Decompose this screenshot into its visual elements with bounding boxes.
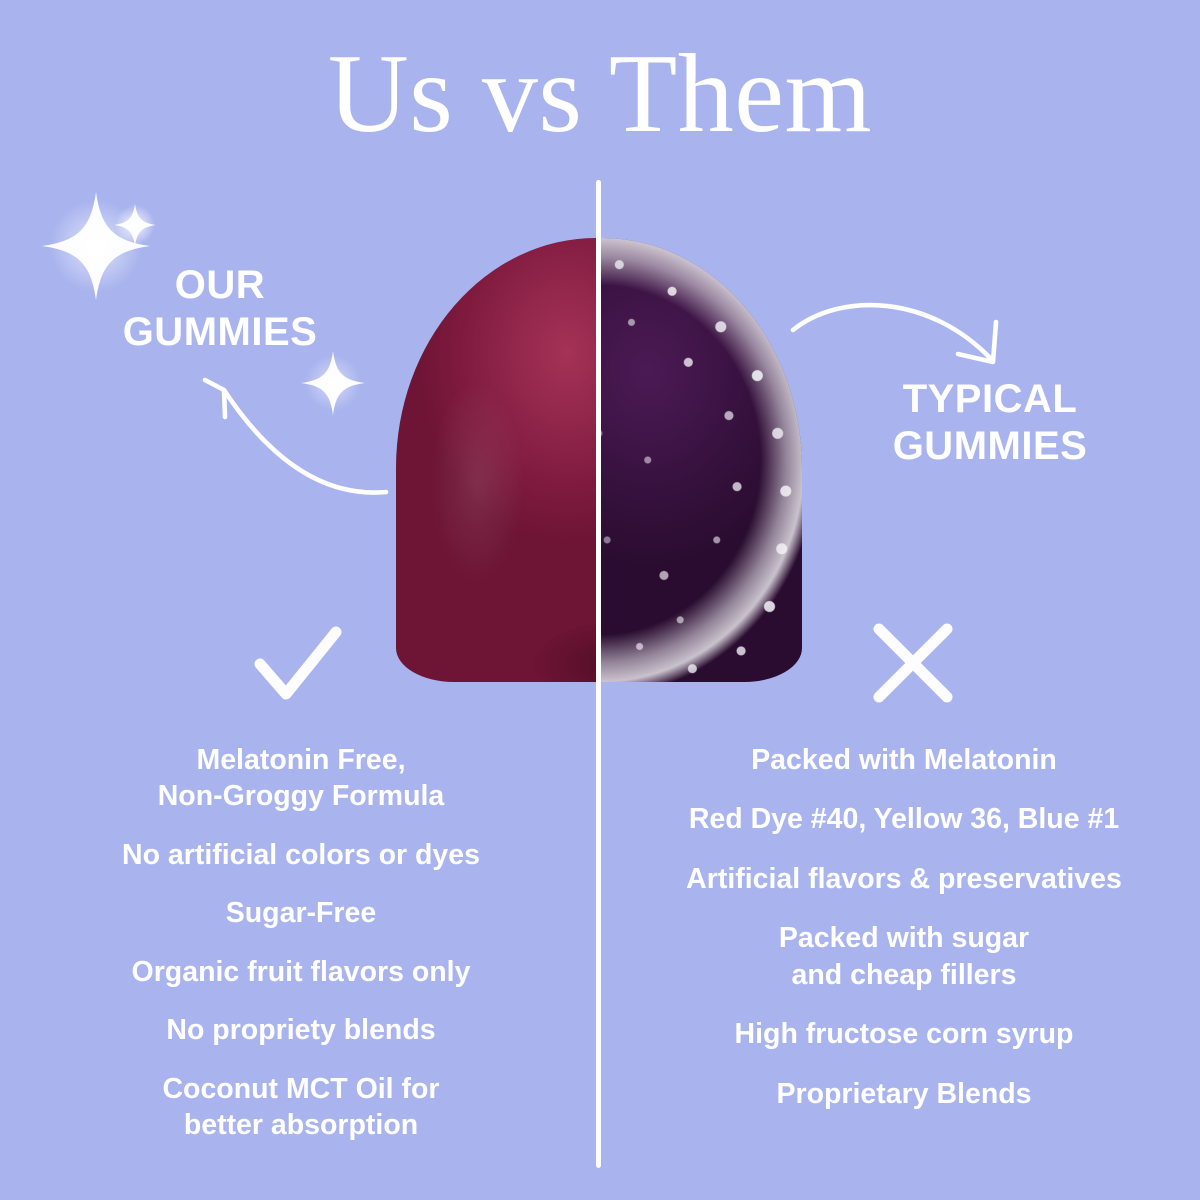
vertical-divider-line bbox=[596, 180, 601, 1168]
list-item: Organic fruit flavors only bbox=[20, 954, 582, 990]
page-title: Us vs Them bbox=[0, 38, 1200, 150]
column-heading-ours: OUR GUMMIES bbox=[40, 262, 400, 356]
gummy-half-typical bbox=[599, 238, 802, 682]
benefits-list-ours: Melatonin Free, Non-Groggy Formula No ar… bbox=[20, 742, 582, 1166]
list-item: Artificial flavors & preservatives bbox=[620, 861, 1188, 897]
list-item: Packed with sugar and cheap fillers bbox=[620, 920, 1188, 993]
list-item: Melatonin Free, Non-Groggy Formula bbox=[20, 742, 582, 815]
check-icon bbox=[248, 618, 348, 717]
list-item: No artificial colors or dyes bbox=[20, 837, 582, 873]
gummy-smooth-surface bbox=[396, 238, 599, 682]
close-icon bbox=[866, 616, 960, 715]
list-item: Red Dye #40, Yellow 36, Blue #1 bbox=[620, 801, 1188, 837]
list-item: Sugar-Free bbox=[20, 895, 582, 931]
gummy-sugar-surface bbox=[599, 238, 802, 682]
drawbacks-list-typical: Packed with Melatonin Red Dye #40, Yello… bbox=[620, 742, 1188, 1135]
list-item: Proprietary Blends bbox=[620, 1076, 1188, 1112]
list-item: High fructose corn syrup bbox=[620, 1016, 1188, 1052]
sparkle-small-icon bbox=[108, 198, 162, 252]
column-heading-typical: TYPICAL GUMMIES bbox=[810, 376, 1170, 470]
curved-arrow-up-left-icon bbox=[190, 366, 410, 511]
list-item: No propriety blends bbox=[20, 1012, 582, 1048]
list-item: Packed with Melatonin bbox=[620, 742, 1188, 778]
sugar-crystal-rim bbox=[599, 238, 802, 682]
comparison-infographic: Us vs Them bbox=[0, 0, 1200, 1200]
gummy-half-ours bbox=[396, 238, 599, 682]
list-item: Coconut MCT Oil for better absorption bbox=[20, 1071, 582, 1144]
